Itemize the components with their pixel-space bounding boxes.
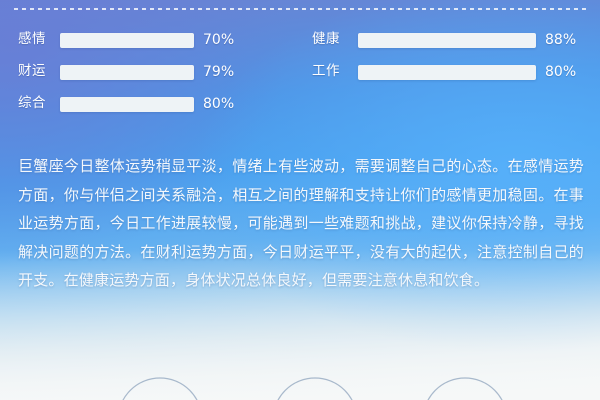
decorative-circle (423, 378, 507, 400)
metric-track-work (358, 65, 536, 80)
metric-value-wealth: 79% (203, 65, 234, 79)
decorative-circles (0, 330, 600, 400)
metric-value-work: 80% (545, 65, 576, 79)
metric-value-health: 88% (545, 33, 576, 47)
metric-value-affection: 70% (203, 33, 234, 47)
metric-track-overall (60, 97, 194, 112)
metric-row-overall: 综合 80% (18, 88, 280, 120)
metric-row-wealth: 财运 79% (18, 56, 280, 88)
metric-row-work: 工作 80% (312, 56, 580, 88)
metrics-right-column: 健康 88% 工作 80% (312, 24, 580, 88)
metric-label-affection: 感情 (18, 33, 60, 47)
metric-row-health: 健康 88% (312, 24, 580, 56)
fortune-description: 巨蟹座今日整体运势稍显平淡，情绪上有些波动，需要调整自己的心态。在感情运势方面，… (18, 152, 584, 295)
metric-label-health: 健康 (312, 33, 358, 47)
dashed-divider (14, 8, 586, 10)
metric-track-wealth (60, 65, 194, 80)
metric-row-affection: 感情 70% (18, 24, 280, 56)
metric-label-work: 工作 (312, 65, 358, 79)
decorative-circle (118, 378, 202, 400)
metric-track-health (358, 33, 536, 48)
metrics-left-column: 感情 70% 财运 79% 综合 80% (18, 24, 280, 120)
decorative-circles-svg (0, 330, 600, 400)
metric-label-wealth: 财运 (18, 65, 60, 79)
metric-label-overall: 综合 (18, 97, 60, 111)
metric-track-affection (60, 33, 194, 48)
metric-value-overall: 80% (203, 97, 234, 111)
fortune-card: 感情 70% 财运 79% 综合 80% (0, 0, 600, 400)
decorative-circle (273, 378, 357, 400)
